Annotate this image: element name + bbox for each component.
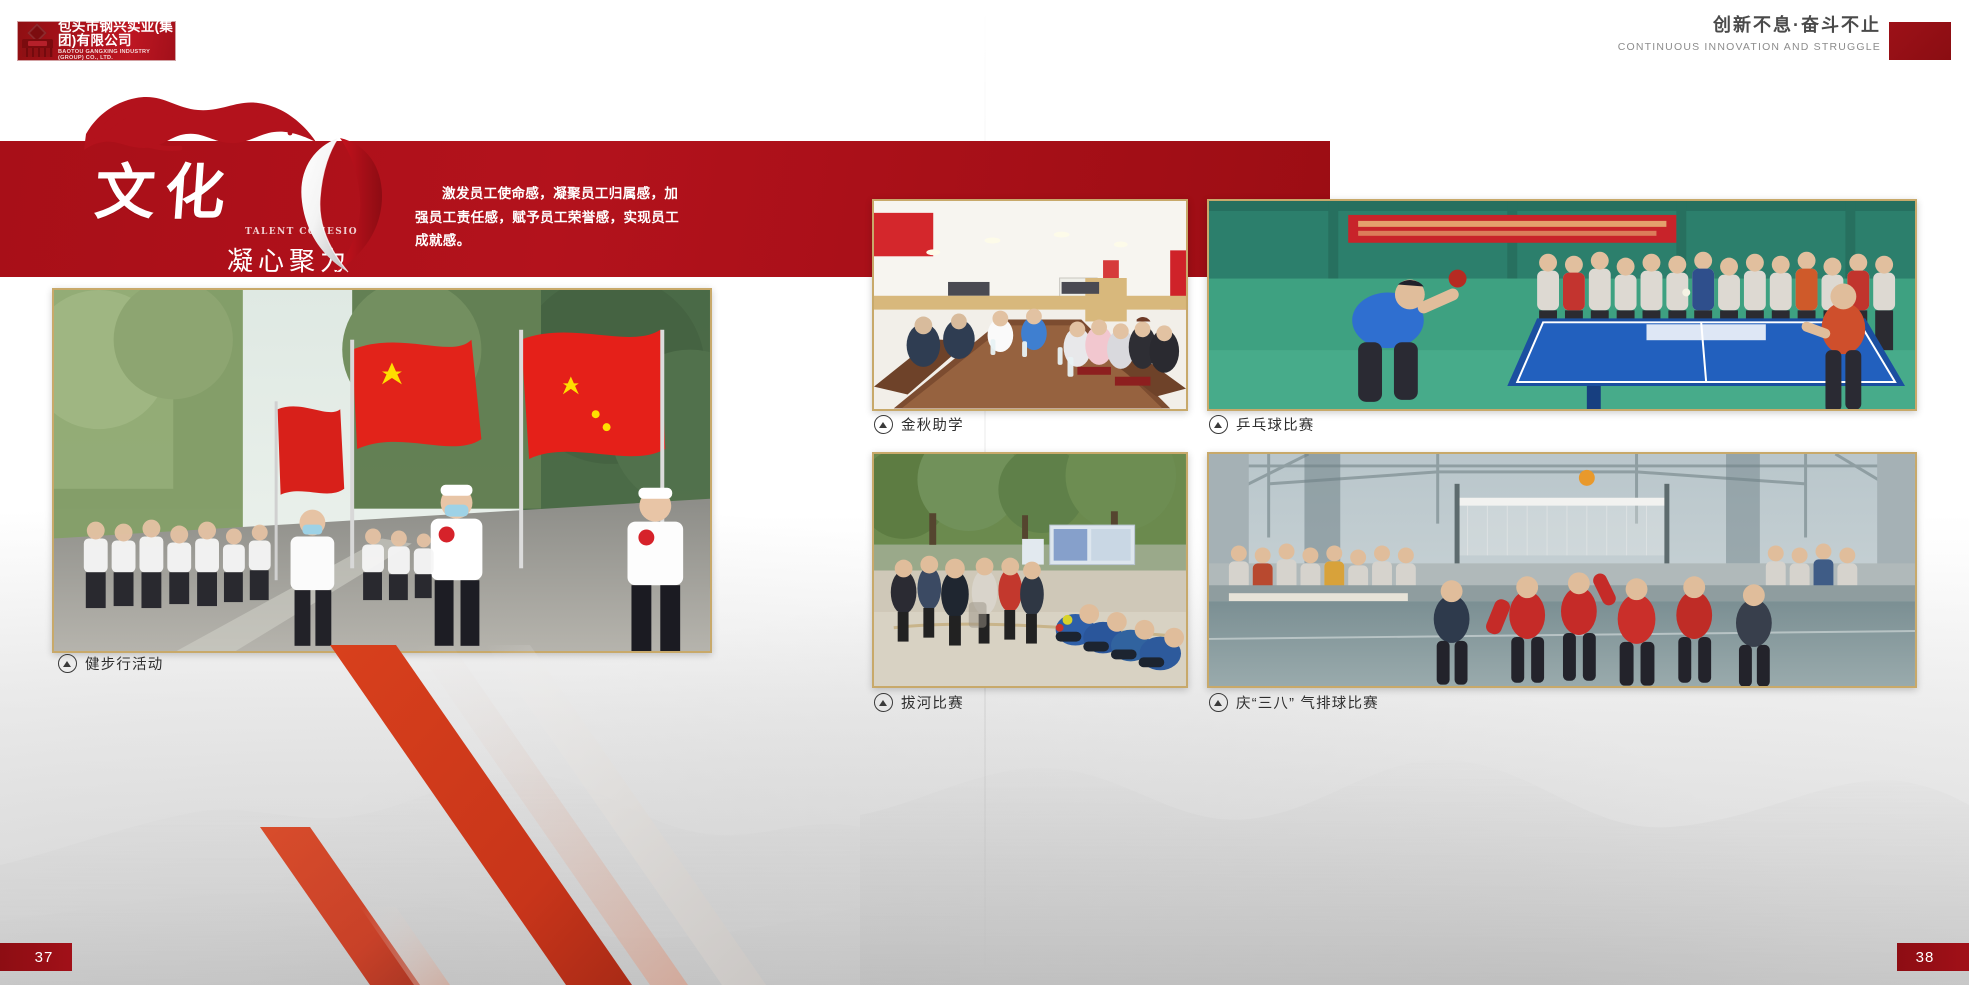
company-name-cn: 包头市钢兴实业(集团)有限公司 xyxy=(58,20,175,47)
company-name-en: BAOTOU GANGXING INDUSTRY (GROUP) CO., LT… xyxy=(58,50,175,61)
slogan-cn: 创新不息·奋斗不止 xyxy=(1618,14,1881,37)
page-number-left-text: 37 xyxy=(35,949,54,966)
brochure-spread: 包头市钢兴实业(集团)有限公司 BAOTOU GANGXING INDUSTRY… xyxy=(0,0,1969,985)
caption-chevron-up-icon xyxy=(874,693,893,712)
caption-air-volleyball-text: 庆“三八” 气排球比赛 xyxy=(1236,692,1379,713)
caption-air-volleyball: 庆“三八” 气排球比赛 xyxy=(1209,692,1379,713)
caption-tug-of-war: 拔河比赛 xyxy=(874,692,964,713)
company-logo: 包头市钢兴实业(集团)有限公司 BAOTOU GANGXING INDUSTRY… xyxy=(18,22,175,60)
caption-tug-of-war-text: 拔河比赛 xyxy=(901,692,964,713)
photo-table-tennis[interactable] xyxy=(1207,199,1917,411)
photo-air-volleyball[interactable] xyxy=(1207,452,1917,688)
caption-autumn-scholarship-text: 金秋助学 xyxy=(901,414,964,435)
banner-paragraph: 激发员工使命感，凝聚员工归属感，加强员工责任感，赋予员工荣誉感，实现员工成就感。 xyxy=(415,183,690,254)
photo-autumn-scholarship[interactable] xyxy=(872,199,1188,411)
caption-chevron-up-icon xyxy=(58,654,77,673)
caption-autumn-scholarship: 金秋助学 xyxy=(874,414,964,435)
photo-autumn-scholarship-image xyxy=(874,201,1186,410)
caption-table-tennis: 乒乓球比赛 xyxy=(1209,414,1315,435)
photo-health-walk-image xyxy=(54,290,710,653)
caption-chevron-up-icon xyxy=(1209,415,1228,434)
caption-chevron-up-icon xyxy=(874,415,893,434)
header-slogan: 创新不息·奋斗不止 CONTINUOUS INNOVATION AND STRU… xyxy=(1618,14,1881,53)
photo-table-tennis-image xyxy=(1209,201,1915,411)
banner-subtitle-cn: 凝心聚力 xyxy=(227,241,351,277)
photo-tug-of-war[interactable] xyxy=(872,452,1188,688)
page-number-right: 38 xyxy=(1897,943,1969,971)
page-number-right-text: 38 xyxy=(1916,949,1935,966)
photo-tug-of-war-image xyxy=(874,454,1186,687)
caption-chevron-up-icon xyxy=(1209,693,1228,712)
slogan-en: CONTINUOUS INNOVATION AND STRUGGLE xyxy=(1618,41,1881,53)
banner-title-group: 文化 TALENT COHESION 凝心聚力 xyxy=(95,163,395,273)
header-accent-block xyxy=(1889,22,1951,60)
page-header: 包头市钢兴实业(集团)有限公司 BAOTOU GANGXING INDUSTRY… xyxy=(0,0,1969,136)
page-number-left: 37 xyxy=(0,943,72,971)
banner-title-cn: 文化 xyxy=(93,163,397,223)
gangxing-diamond-icon xyxy=(18,22,58,60)
caption-table-tennis-text: 乒乓球比赛 xyxy=(1236,414,1315,435)
caption-health-walk: 健步行活动 xyxy=(58,653,164,674)
banner-title-en: TALENT COHESION xyxy=(245,227,368,237)
photo-air-volleyball-image xyxy=(1209,454,1915,688)
caption-health-walk-text: 健步行活动 xyxy=(85,653,164,674)
photo-health-walk[interactable] xyxy=(52,288,712,653)
